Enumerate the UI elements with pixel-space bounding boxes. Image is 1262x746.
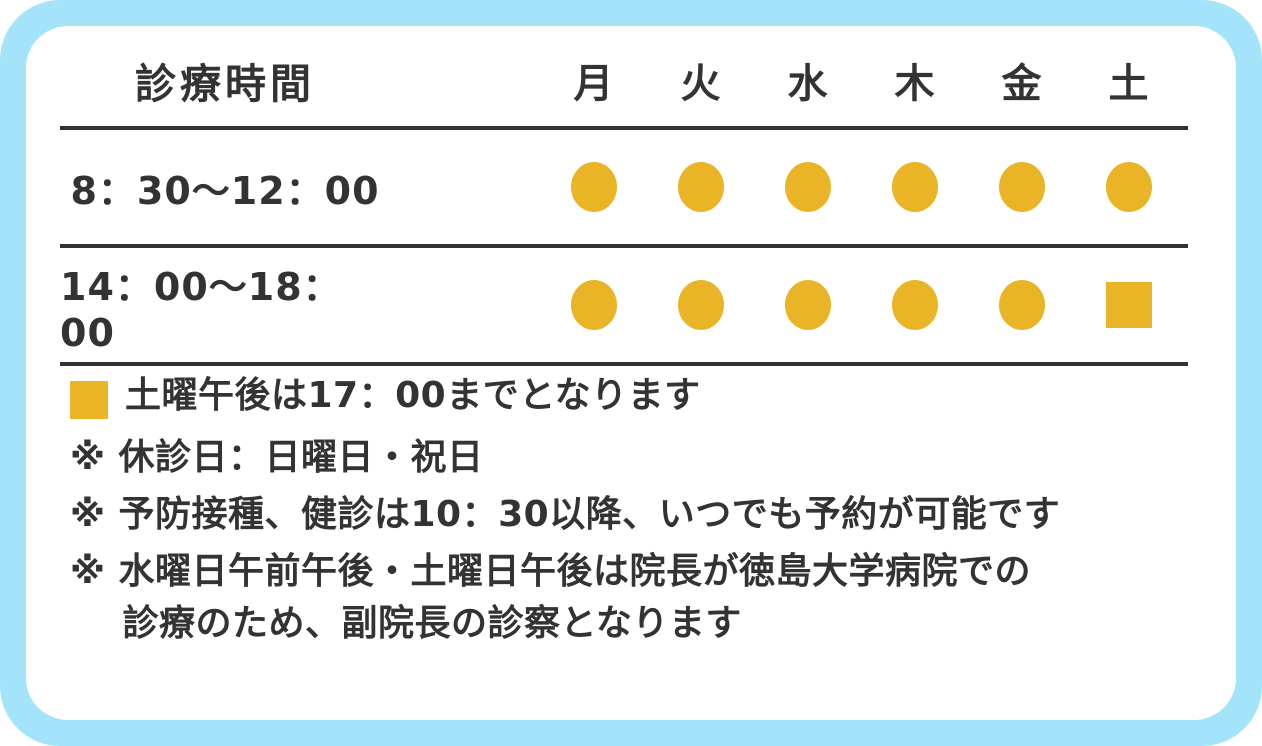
- day-header-fri: 金: [968, 51, 1075, 109]
- open-circle-icon: [785, 280, 831, 330]
- time-slot-afternoon: 14：00〜18：00: [60, 256, 540, 355]
- open-circle-icon: [785, 162, 831, 212]
- table-row: 14：00〜18：00: [60, 248, 1222, 362]
- cell-morning-tue: [647, 162, 754, 212]
- kome-asterisk-icon: ※: [70, 440, 106, 476]
- table-header-row: 診療時間 月 火 水 木 金 土: [60, 34, 1222, 126]
- time-column-header: 診療時間: [60, 50, 540, 110]
- open-circle-icon: [678, 162, 724, 212]
- open-circle-icon: [999, 280, 1045, 330]
- note-item-closed-days: ※ 休診日：日曜日・祝日: [70, 440, 1220, 476]
- note-text: 土曜午後は17：00までとなります: [125, 378, 1220, 414]
- cell-afternoon-tue: [647, 280, 754, 330]
- open-circle-icon: [892, 162, 938, 212]
- note-item-vaccination: ※ 予防接種、健診は10：30以降、いつでも予約が可能です: [70, 497, 1220, 533]
- day-header-thu: 木: [861, 51, 968, 109]
- cell-afternoon-wed: [754, 280, 861, 330]
- day-header-mon: 月: [540, 51, 647, 109]
- note-text: 予防接種、健診は10：30以降、いつでも予約が可能です: [119, 497, 1221, 533]
- day-header-wed: 水: [754, 51, 861, 109]
- note-text-line1: 水曜日午前午後・土曜日午後は院長が徳島大学病院での: [119, 551, 1032, 592]
- table-row: 8：30〜12：00: [60, 130, 1222, 244]
- schedule-card: 診療時間 月 火 水 木 金 土 8：30〜12：00: [26, 26, 1236, 720]
- open-circle-icon: [571, 162, 617, 212]
- cell-morning-mon: [540, 162, 647, 212]
- kome-asterisk-icon: ※: [70, 497, 106, 533]
- note-text: 水曜日午前午後・土曜日午後は院長が徳島大学病院での 診療のため、副院長の診察とな…: [119, 554, 1221, 642]
- cell-afternoon-mon: [540, 280, 647, 330]
- open-circle-icon: [1106, 162, 1152, 212]
- note-item-doctor-substitution: ※ 水曜日午前午後・土曜日午後は院長が徳島大学病院での 診療のため、副院長の診察…: [70, 554, 1220, 642]
- clinic-hours-table: 診療時間 月 火 水 木 金 土 8：30〜12：00: [60, 34, 1222, 366]
- open-circle-icon: [892, 280, 938, 330]
- cell-afternoon-thu: [861, 280, 968, 330]
- cell-morning-thu: [861, 162, 968, 212]
- cell-morning-wed: [754, 162, 861, 212]
- note-text: 休診日：日曜日・祝日: [119, 440, 1221, 476]
- note-text-line2: 診療のため、副院長の診察となります: [123, 606, 1221, 642]
- notes-section: 土曜午後は17：00までとなります ※ 休診日：日曜日・祝日 ※ 予防接種、健診…: [70, 378, 1220, 663]
- note-item-saturday-afternoon: 土曜午後は17：00までとなります: [70, 378, 1220, 419]
- short-hours-square-icon: [70, 381, 108, 419]
- cell-morning-fri: [968, 162, 1075, 212]
- outer-frame: 診療時間 月 火 水 木 金 土 8：30〜12：00: [0, 0, 1262, 746]
- open-circle-icon: [678, 280, 724, 330]
- short-hours-square-icon: [1106, 282, 1152, 328]
- cell-morning-sat: [1075, 162, 1182, 212]
- kome-asterisk-icon: ※: [70, 554, 106, 590]
- cell-afternoon-sat: [1075, 282, 1182, 328]
- day-header-sat: 土: [1075, 51, 1182, 109]
- open-circle-icon: [571, 280, 617, 330]
- open-circle-icon: [999, 162, 1045, 212]
- cell-afternoon-fri: [968, 280, 1075, 330]
- day-header-tue: 火: [647, 51, 754, 109]
- time-slot-morning: 8：30〜12：00: [60, 160, 540, 215]
- table-divider-bottom: [60, 362, 1188, 366]
